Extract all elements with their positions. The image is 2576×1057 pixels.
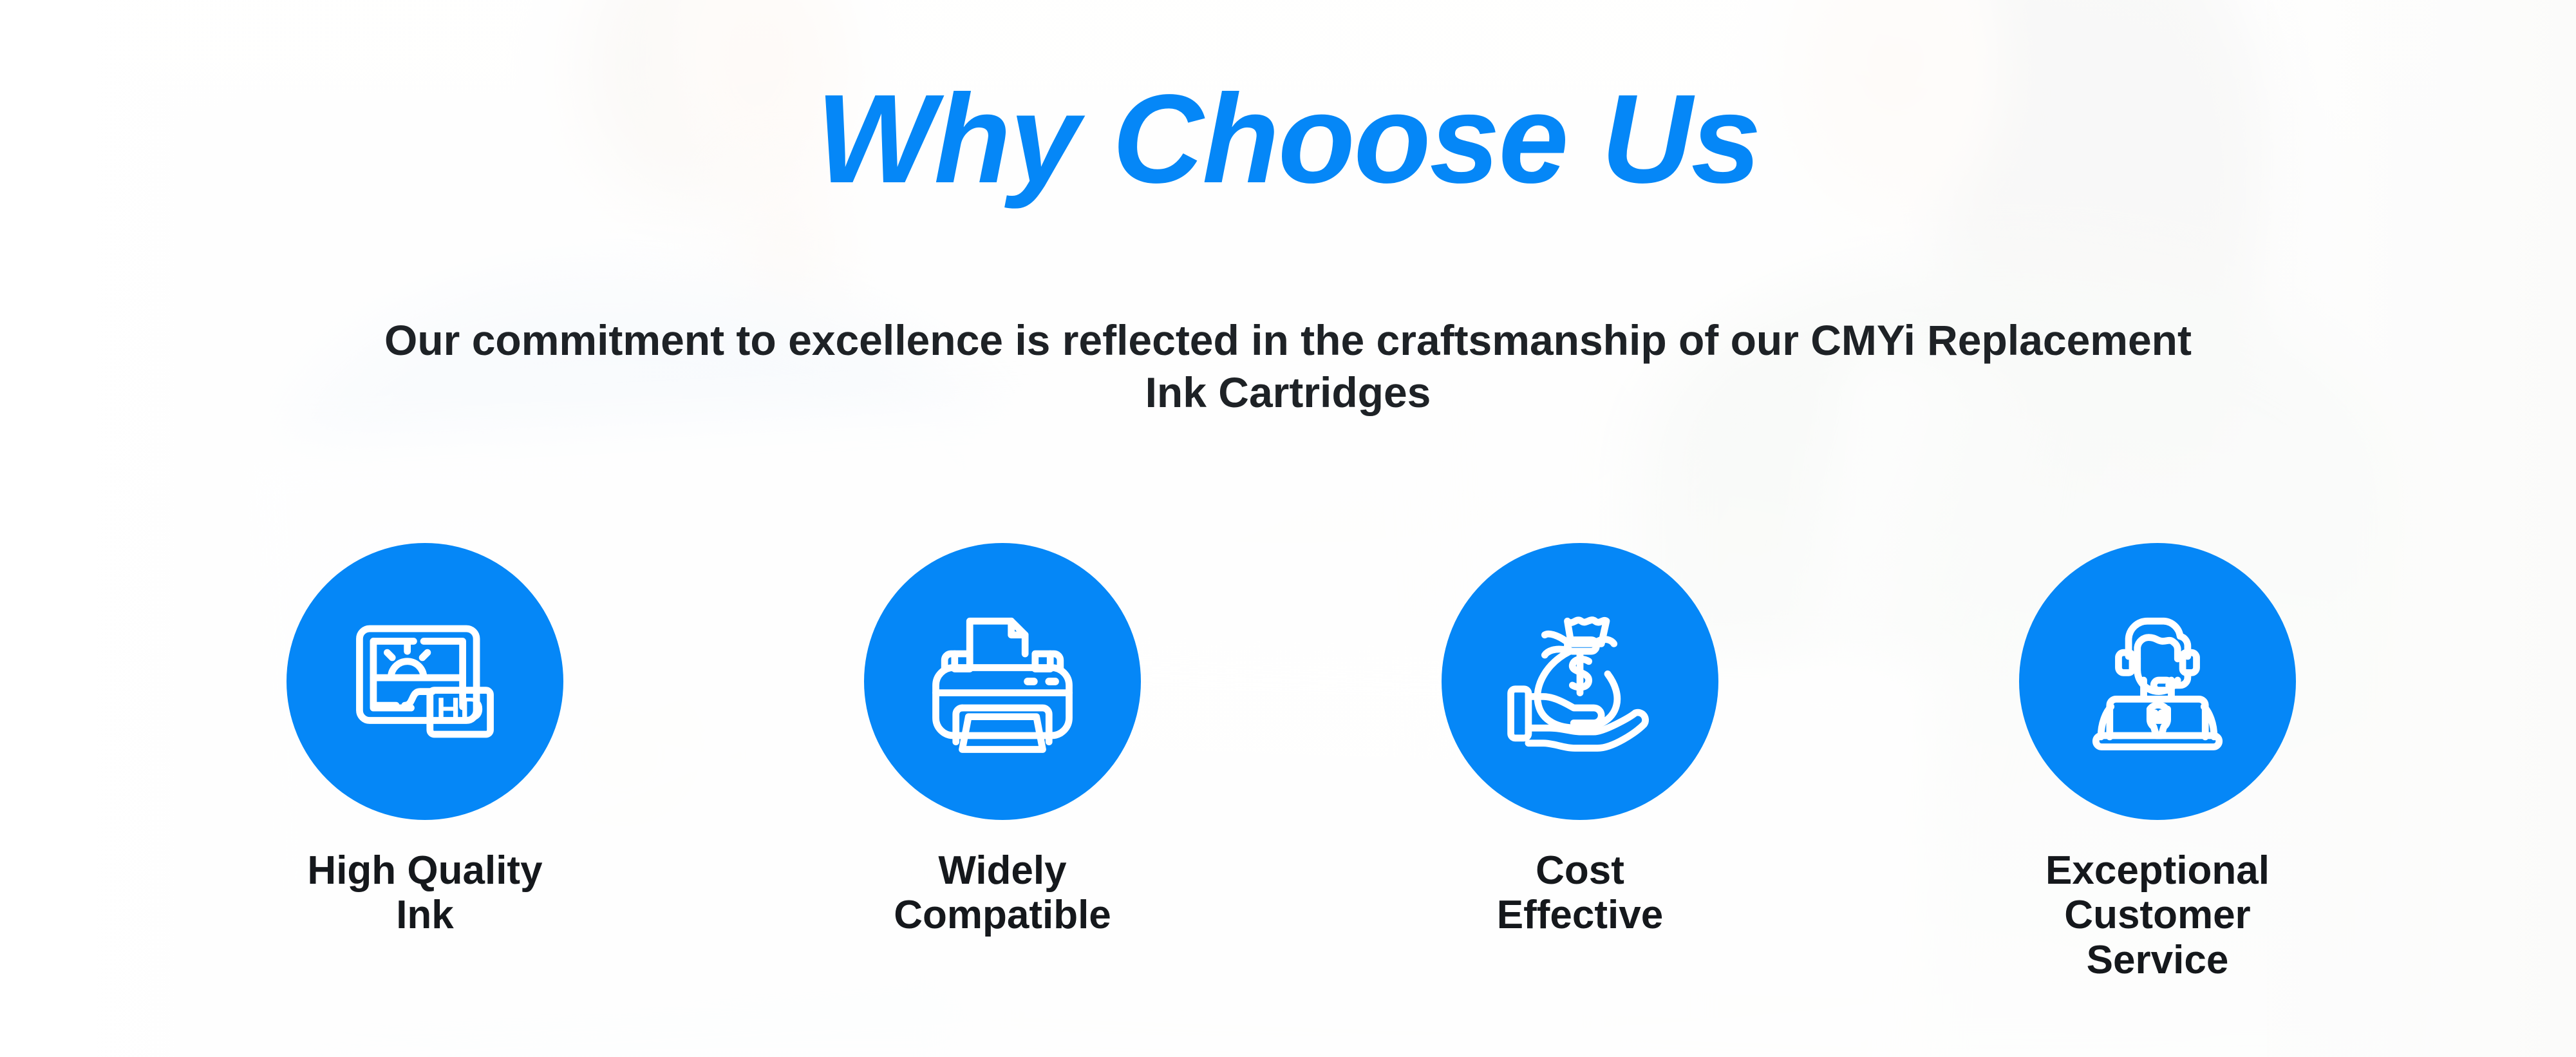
- banner-content: Why Choose Us Our commitment to excellen…: [0, 0, 2576, 1057]
- feature-item-high-quality-ink: HD High Quality Ink: [287, 543, 563, 938]
- feature-icon-badge: HD: [287, 543, 563, 820]
- feature-icon-badge: [1442, 543, 1718, 820]
- feature-icon-badge: [2019, 543, 2296, 820]
- feature-icon-badge: [864, 543, 1141, 820]
- page-title: Why Choose Us: [0, 76, 2576, 202]
- printer-icon: [922, 601, 1083, 762]
- support-agent-headset-laptop-icon: [2077, 601, 2238, 762]
- feature-label: High Quality Ink: [307, 848, 542, 938]
- hd-badge-text: HD: [437, 691, 484, 728]
- feature-item-customer-service: Exceptional Customer Service: [2019, 543, 2296, 982]
- feature-label: Widely Compatible: [894, 848, 1111, 938]
- feature-label: Cost Effective: [1497, 848, 1663, 938]
- feature-list: HD High Quality Ink: [287, 543, 2302, 982]
- feature-item-cost-effective: Cost Effective: [1442, 543, 1718, 938]
- feature-label: Exceptional Customer Service: [2019, 848, 2296, 982]
- why-choose-us-banner: Why Choose Us Our commitment to excellen…: [0, 0, 2576, 1057]
- money-bag-in-hand-icon: [1500, 601, 1660, 762]
- feature-item-widely-compatible: Widely Compatible: [864, 543, 1141, 938]
- page-subtitle: Our commitment to excellence is reflecte…: [368, 314, 2209, 418]
- hd-image-quality-icon: HD: [344, 601, 505, 762]
